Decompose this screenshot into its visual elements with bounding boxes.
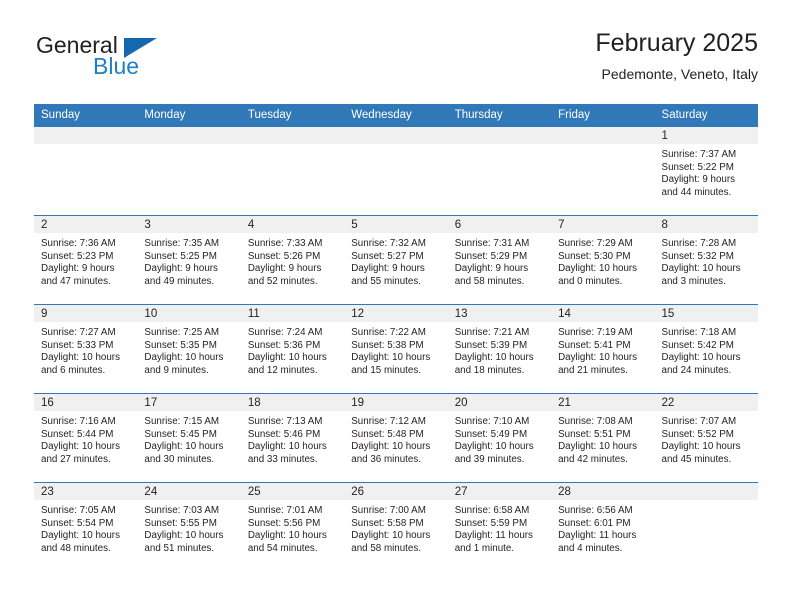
sunset-text: Sunset: 5:26 PM: [248, 251, 339, 264]
sunset-text: Sunset: 5:22 PM: [662, 162, 753, 175]
day-details: Sunrise: 7:00 AMSunset: 5:58 PMDaylight:…: [344, 500, 447, 571]
daylight-text-line2: and 21 minutes.: [558, 365, 649, 378]
daylight-text-line2: and 54 minutes.: [248, 543, 339, 556]
sunset-text: Sunset: 5:33 PM: [41, 340, 132, 353]
daylight-text-line2: and 47 minutes.: [41, 276, 132, 289]
day-details: Sunrise: 7:36 AMSunset: 5:23 PMDaylight:…: [34, 233, 137, 304]
day-number: 11: [241, 305, 344, 322]
day-cell-12[interactable]: 12Sunrise: 7:22 AMSunset: 5:38 PMDayligh…: [344, 305, 447, 393]
daylight-text-line1: Daylight: 11 hours: [455, 530, 546, 543]
daylight-text-line2: and 15 minutes.: [351, 365, 442, 378]
daylight-text-line2: and 58 minutes.: [351, 543, 442, 556]
day-details: Sunrise: 7:01 AMSunset: 5:56 PMDaylight:…: [241, 500, 344, 571]
sunrise-text: Sunrise: 7:13 AM: [248, 416, 339, 429]
day-number: [655, 483, 758, 500]
day-number: [344, 127, 447, 144]
day-cell-21[interactable]: 21Sunrise: 7:08 AMSunset: 5:51 PMDayligh…: [551, 394, 654, 482]
page-subtitle: Pedemonte, Veneto, Italy: [595, 64, 758, 84]
day-number: 10: [137, 305, 240, 322]
calendar-week-row: 9Sunrise: 7:27 AMSunset: 5:33 PMDaylight…: [34, 305, 758, 394]
sunset-text: Sunset: 5:38 PM: [351, 340, 442, 353]
weekday-header-wednesday: Wednesday: [344, 104, 447, 127]
daylight-text-line1: Daylight: 10 hours: [351, 530, 442, 543]
day-details: Sunrise: 7:12 AMSunset: 5:48 PMDaylight:…: [344, 411, 447, 482]
sunrise-text: Sunrise: 7:35 AM: [144, 238, 235, 251]
sunset-text: Sunset: 5:45 PM: [144, 429, 235, 442]
daylight-text-line2: and 18 minutes.: [455, 365, 546, 378]
day-details: Sunrise: 6:58 AMSunset: 5:59 PMDaylight:…: [448, 500, 551, 571]
day-details: Sunrise: 7:25 AMSunset: 5:35 PMDaylight:…: [137, 322, 240, 393]
weekday-header-saturday: Saturday: [655, 104, 758, 127]
daylight-text-line1: Daylight: 10 hours: [558, 263, 649, 276]
day-number: 28: [551, 483, 654, 500]
day-details: Sunrise: 7:18 AMSunset: 5:42 PMDaylight:…: [655, 322, 758, 393]
day-cell-7[interactable]: 7Sunrise: 7:29 AMSunset: 5:30 PMDaylight…: [551, 216, 654, 304]
sunset-text: Sunset: 5:29 PM: [455, 251, 546, 264]
daylight-text-line1: Daylight: 10 hours: [558, 352, 649, 365]
daylight-text-line2: and 48 minutes.: [41, 543, 132, 556]
day-number: [241, 127, 344, 144]
sunset-text: Sunset: 6:01 PM: [558, 518, 649, 531]
day-details: Sunrise: 7:10 AMSunset: 5:49 PMDaylight:…: [448, 411, 551, 482]
day-details: [137, 144, 240, 215]
weekday-header-row: SundayMondayTuesdayWednesdayThursdayFrid…: [34, 104, 758, 127]
weekday-header-sunday: Sunday: [34, 104, 137, 127]
sunrise-text: Sunrise: 7:32 AM: [351, 238, 442, 251]
day-cell-27[interactable]: 27Sunrise: 6:58 AMSunset: 5:59 PMDayligh…: [448, 483, 551, 571]
daylight-text-line2: and 42 minutes.: [558, 454, 649, 467]
daylight-text-line2: and 55 minutes.: [351, 276, 442, 289]
calendar-week-row: 2Sunrise: 7:36 AMSunset: 5:23 PMDaylight…: [34, 216, 758, 305]
sunrise-text: Sunrise: 7:36 AM: [41, 238, 132, 251]
sunset-text: Sunset: 5:48 PM: [351, 429, 442, 442]
day-number: 3: [137, 216, 240, 233]
day-details: Sunrise: 7:08 AMSunset: 5:51 PMDaylight:…: [551, 411, 654, 482]
weekday-header-friday: Friday: [551, 104, 654, 127]
daylight-text-line1: Daylight: 10 hours: [351, 352, 442, 365]
brand-logo[interactable]: General Blue: [34, 32, 264, 88]
sunrise-text: Sunrise: 7:31 AM: [455, 238, 546, 251]
sunrise-text: Sunrise: 7:28 AM: [662, 238, 753, 251]
calendar-week-row: 1Sunrise: 7:37 AMSunset: 5:22 PMDaylight…: [34, 127, 758, 216]
day-number: [137, 127, 240, 144]
day-cell-empty: [34, 127, 137, 215]
daylight-text-line1: Daylight: 9 hours: [455, 263, 546, 276]
day-cell-19[interactable]: 19Sunrise: 7:12 AMSunset: 5:48 PMDayligh…: [344, 394, 447, 482]
sunrise-text: Sunrise: 7:22 AM: [351, 327, 442, 340]
daylight-text-line2: and 44 minutes.: [662, 187, 753, 200]
day-cell-18[interactable]: 18Sunrise: 7:13 AMSunset: 5:46 PMDayligh…: [241, 394, 344, 482]
daylight-text-line2: and 51 minutes.: [144, 543, 235, 556]
day-cell-14[interactable]: 14Sunrise: 7:19 AMSunset: 5:41 PMDayligh…: [551, 305, 654, 393]
sunrise-text: Sunrise: 7:10 AM: [455, 416, 546, 429]
day-cell-13[interactable]: 13Sunrise: 7:21 AMSunset: 5:39 PMDayligh…: [448, 305, 551, 393]
day-cell-empty: [655, 483, 758, 571]
brand-name-bottom: Blue: [93, 53, 139, 79]
day-cell-17[interactable]: 17Sunrise: 7:15 AMSunset: 5:45 PMDayligh…: [137, 394, 240, 482]
day-details: [551, 144, 654, 215]
day-cell-15[interactable]: 15Sunrise: 7:18 AMSunset: 5:42 PMDayligh…: [655, 305, 758, 393]
daylight-text-line1: Daylight: 10 hours: [558, 441, 649, 454]
day-details: Sunrise: 7:27 AMSunset: 5:33 PMDaylight:…: [34, 322, 137, 393]
daylight-text-line2: and 6 minutes.: [41, 365, 132, 378]
sunset-text: Sunset: 5:46 PM: [248, 429, 339, 442]
day-number: 20: [448, 394, 551, 411]
day-cell-16[interactable]: 16Sunrise: 7:16 AMSunset: 5:44 PMDayligh…: [34, 394, 137, 482]
day-details: [344, 144, 447, 215]
day-cell-10[interactable]: 10Sunrise: 7:25 AMSunset: 5:35 PMDayligh…: [137, 305, 240, 393]
day-number: 21: [551, 394, 654, 411]
daylight-text-line1: Daylight: 10 hours: [41, 352, 132, 365]
day-cell-11[interactable]: 11Sunrise: 7:24 AMSunset: 5:36 PMDayligh…: [241, 305, 344, 393]
page-header: General Blue February 2025 Pedemonte, Ve…: [34, 28, 758, 98]
daylight-text-line1: Daylight: 10 hours: [662, 352, 753, 365]
day-details: Sunrise: 7:03 AMSunset: 5:55 PMDaylight:…: [137, 500, 240, 571]
day-cell-24[interactable]: 24Sunrise: 7:03 AMSunset: 5:55 PMDayligh…: [137, 483, 240, 571]
sunrise-text: Sunrise: 7:15 AM: [144, 416, 235, 429]
day-number: 14: [551, 305, 654, 322]
day-number: 23: [34, 483, 137, 500]
daylight-text-line2: and 33 minutes.: [248, 454, 339, 467]
sunset-text: Sunset: 5:52 PM: [662, 429, 753, 442]
daylight-text-line2: and 49 minutes.: [144, 276, 235, 289]
sunrise-text: Sunrise: 6:58 AM: [455, 505, 546, 518]
sunrise-text: Sunrise: 7:21 AM: [455, 327, 546, 340]
day-details: [448, 144, 551, 215]
sunset-text: Sunset: 5:58 PM: [351, 518, 442, 531]
sunset-text: Sunset: 5:30 PM: [558, 251, 649, 264]
day-details: Sunrise: 7:19 AMSunset: 5:41 PMDaylight:…: [551, 322, 654, 393]
sunrise-text: Sunrise: 7:29 AM: [558, 238, 649, 251]
day-cell-8[interactable]: 8Sunrise: 7:28 AMSunset: 5:32 PMDaylight…: [655, 216, 758, 304]
day-number: 27: [448, 483, 551, 500]
weekday-header-thursday: Thursday: [448, 104, 551, 127]
day-cell-6[interactable]: 6Sunrise: 7:31 AMSunset: 5:29 PMDaylight…: [448, 216, 551, 304]
day-cell-2[interactable]: 2Sunrise: 7:36 AMSunset: 5:23 PMDaylight…: [34, 216, 137, 304]
day-cell-22[interactable]: 22Sunrise: 7:07 AMSunset: 5:52 PMDayligh…: [655, 394, 758, 482]
day-details: Sunrise: 7:37 AMSunset: 5:22 PMDaylight:…: [655, 144, 758, 215]
day-number: 16: [34, 394, 137, 411]
day-cell-empty: [344, 127, 447, 215]
daylight-text-line1: Daylight: 10 hours: [455, 441, 546, 454]
day-details: Sunrise: 7:21 AMSunset: 5:39 PMDaylight:…: [448, 322, 551, 393]
day-number: [551, 127, 654, 144]
day-cell-28[interactable]: 28Sunrise: 6:56 AMSunset: 6:01 PMDayligh…: [551, 483, 654, 571]
day-number: [34, 127, 137, 144]
day-details: Sunrise: 7:33 AMSunset: 5:26 PMDaylight:…: [241, 233, 344, 304]
sunrise-text: Sunrise: 7:08 AM: [558, 416, 649, 429]
daylight-text-line2: and 12 minutes.: [248, 365, 339, 378]
daylight-text-line2: and 27 minutes.: [41, 454, 132, 467]
calendar-page: General Blue February 2025 Pedemonte, Ve…: [0, 0, 792, 612]
daylight-text-line1: Daylight: 11 hours: [558, 530, 649, 543]
day-number: 22: [655, 394, 758, 411]
daylight-text-line2: and 9 minutes.: [144, 365, 235, 378]
sunset-text: Sunset: 5:55 PM: [144, 518, 235, 531]
day-details: Sunrise: 7:15 AMSunset: 5:45 PMDaylight:…: [137, 411, 240, 482]
weekday-header-tuesday: Tuesday: [241, 104, 344, 127]
day-details: [241, 144, 344, 215]
day-number: 7: [551, 216, 654, 233]
day-details: Sunrise: 7:29 AMSunset: 5:30 PMDaylight:…: [551, 233, 654, 304]
day-number: 26: [344, 483, 447, 500]
daylight-text-line2: and 1 minute.: [455, 543, 546, 556]
day-cell-empty: [448, 127, 551, 215]
sunset-text: Sunset: 5:39 PM: [455, 340, 546, 353]
sunrise-text: Sunrise: 7:00 AM: [351, 505, 442, 518]
day-cell-4[interactable]: 4Sunrise: 7:33 AMSunset: 5:26 PMDaylight…: [241, 216, 344, 304]
sunset-text: Sunset: 5:23 PM: [41, 251, 132, 264]
sunrise-text: Sunrise: 7:27 AM: [41, 327, 132, 340]
day-details: Sunrise: 7:16 AMSunset: 5:44 PMDaylight:…: [34, 411, 137, 482]
day-number: 13: [448, 305, 551, 322]
calendar-week-row: 23Sunrise: 7:05 AMSunset: 5:54 PMDayligh…: [34, 483, 758, 571]
day-cell-20[interactable]: 20Sunrise: 7:10 AMSunset: 5:49 PMDayligh…: [448, 394, 551, 482]
calendar-weeks: 1Sunrise: 7:37 AMSunset: 5:22 PMDaylight…: [34, 127, 758, 571]
calendar-week-row: 16Sunrise: 7:16 AMSunset: 5:44 PMDayligh…: [34, 394, 758, 483]
daylight-text-line2: and 52 minutes.: [248, 276, 339, 289]
sunset-text: Sunset: 5:27 PM: [351, 251, 442, 264]
day-details: Sunrise: 7:28 AMSunset: 5:32 PMDaylight:…: [655, 233, 758, 304]
sunrise-text: Sunrise: 7:24 AM: [248, 327, 339, 340]
sunrise-text: Sunrise: 7:37 AM: [662, 149, 753, 162]
daylight-text-line2: and 3 minutes.: [662, 276, 753, 289]
day-number: 18: [241, 394, 344, 411]
sunset-text: Sunset: 5:32 PM: [662, 251, 753, 264]
sunrise-text: Sunrise: 7:12 AM: [351, 416, 442, 429]
daylight-text-line2: and 39 minutes.: [455, 454, 546, 467]
day-details: Sunrise: 7:32 AMSunset: 5:27 PMDaylight:…: [344, 233, 447, 304]
daylight-text-line2: and 36 minutes.: [351, 454, 442, 467]
daylight-text-line1: Daylight: 10 hours: [41, 530, 132, 543]
day-number: 2: [34, 216, 137, 233]
daylight-text-line1: Daylight: 10 hours: [662, 263, 753, 276]
day-details: [655, 500, 758, 571]
day-number: 9: [34, 305, 137, 322]
day-number: 25: [241, 483, 344, 500]
daylight-text-line1: Daylight: 9 hours: [248, 263, 339, 276]
day-number: 6: [448, 216, 551, 233]
day-cell-empty: [137, 127, 240, 215]
day-cell-empty: [551, 127, 654, 215]
sunset-text: Sunset: 5:54 PM: [41, 518, 132, 531]
day-number: 4: [241, 216, 344, 233]
sunrise-text: Sunrise: 7:01 AM: [248, 505, 339, 518]
day-details: Sunrise: 6:56 AMSunset: 6:01 PMDaylight:…: [551, 500, 654, 571]
day-details: Sunrise: 7:31 AMSunset: 5:29 PMDaylight:…: [448, 233, 551, 304]
sunrise-text: Sunrise: 7:05 AM: [41, 505, 132, 518]
daylight-text-line2: and 30 minutes.: [144, 454, 235, 467]
day-cell-9[interactable]: 9Sunrise: 7:27 AMSunset: 5:33 PMDaylight…: [34, 305, 137, 393]
weekday-header-monday: Monday: [137, 104, 240, 127]
daylight-text-line1: Daylight: 10 hours: [144, 530, 235, 543]
daylight-text-line2: and 58 minutes.: [455, 276, 546, 289]
daylight-text-line2: and 24 minutes.: [662, 365, 753, 378]
daylight-text-line1: Daylight: 10 hours: [144, 352, 235, 365]
day-details: Sunrise: 7:24 AMSunset: 5:36 PMDaylight:…: [241, 322, 344, 393]
daylight-text-line1: Daylight: 9 hours: [662, 174, 753, 187]
sunrise-text: Sunrise: 7:07 AM: [662, 416, 753, 429]
sunrise-text: Sunrise: 7:16 AM: [41, 416, 132, 429]
day-cell-5[interactable]: 5Sunrise: 7:32 AMSunset: 5:27 PMDaylight…: [344, 216, 447, 304]
sunset-text: Sunset: 5:56 PM: [248, 518, 339, 531]
sunset-text: Sunset: 5:59 PM: [455, 518, 546, 531]
day-cell-empty: [241, 127, 344, 215]
day-number: 15: [655, 305, 758, 322]
daylight-text-line2: and 0 minutes.: [558, 276, 649, 289]
daylight-text-line1: Daylight: 9 hours: [41, 263, 132, 276]
sunrise-text: Sunrise: 7:19 AM: [558, 327, 649, 340]
day-number: 1: [655, 127, 758, 144]
daylight-text-line1: Daylight: 10 hours: [144, 441, 235, 454]
daylight-text-line1: Daylight: 10 hours: [351, 441, 442, 454]
sunrise-text: Sunrise: 6:56 AM: [558, 505, 649, 518]
day-cell-25[interactable]: 25Sunrise: 7:01 AMSunset: 5:56 PMDayligh…: [241, 483, 344, 571]
day-number: 17: [137, 394, 240, 411]
sunset-text: Sunset: 5:49 PM: [455, 429, 546, 442]
day-cell-1[interactable]: 1Sunrise: 7:37 AMSunset: 5:22 PMDaylight…: [655, 127, 758, 215]
sunrise-text: Sunrise: 7:25 AM: [144, 327, 235, 340]
sunset-text: Sunset: 5:42 PM: [662, 340, 753, 353]
day-number: 8: [655, 216, 758, 233]
daylight-text-line1: Daylight: 9 hours: [144, 263, 235, 276]
page-title: February 2025: [595, 28, 758, 58]
sunrise-text: Sunrise: 7:33 AM: [248, 238, 339, 251]
day-number: 19: [344, 394, 447, 411]
sunrise-text: Sunrise: 7:18 AM: [662, 327, 753, 340]
day-number: 24: [137, 483, 240, 500]
day-details: Sunrise: 7:35 AMSunset: 5:25 PMDaylight:…: [137, 233, 240, 304]
day-details: Sunrise: 7:05 AMSunset: 5:54 PMDaylight:…: [34, 500, 137, 571]
day-details: Sunrise: 7:13 AMSunset: 5:46 PMDaylight:…: [241, 411, 344, 482]
sunrise-text: Sunrise: 7:03 AM: [144, 505, 235, 518]
daylight-text-line2: and 45 minutes.: [662, 454, 753, 467]
sunset-text: Sunset: 5:36 PM: [248, 340, 339, 353]
sunset-text: Sunset: 5:35 PM: [144, 340, 235, 353]
daylight-text-line1: Daylight: 10 hours: [662, 441, 753, 454]
day-number: 12: [344, 305, 447, 322]
daylight-text-line1: Daylight: 9 hours: [351, 263, 442, 276]
day-cell-26[interactable]: 26Sunrise: 7:00 AMSunset: 5:58 PMDayligh…: [344, 483, 447, 571]
day-details: Sunrise: 7:22 AMSunset: 5:38 PMDaylight:…: [344, 322, 447, 393]
sunset-text: Sunset: 5:25 PM: [144, 251, 235, 264]
daylight-text-line1: Daylight: 10 hours: [41, 441, 132, 454]
day-cell-3[interactable]: 3Sunrise: 7:35 AMSunset: 5:25 PMDaylight…: [137, 216, 240, 304]
day-number: 5: [344, 216, 447, 233]
day-details: Sunrise: 7:07 AMSunset: 5:52 PMDaylight:…: [655, 411, 758, 482]
daylight-text-line1: Daylight: 10 hours: [248, 530, 339, 543]
daylight-text-line1: Daylight: 10 hours: [455, 352, 546, 365]
day-number: [448, 127, 551, 144]
title-block: February 2025 Pedemonte, Veneto, Italy: [595, 28, 758, 84]
sunset-text: Sunset: 5:41 PM: [558, 340, 649, 353]
daylight-text-line1: Daylight: 10 hours: [248, 441, 339, 454]
day-cell-23[interactable]: 23Sunrise: 7:05 AMSunset: 5:54 PMDayligh…: [34, 483, 137, 571]
calendar-grid: SundayMondayTuesdayWednesdayThursdayFrid…: [34, 104, 758, 571]
sunset-text: Sunset: 5:51 PM: [558, 429, 649, 442]
sunset-text: Sunset: 5:44 PM: [41, 429, 132, 442]
daylight-text-line1: Daylight: 10 hours: [248, 352, 339, 365]
daylight-text-line2: and 4 minutes.: [558, 543, 649, 556]
day-details: [34, 144, 137, 215]
